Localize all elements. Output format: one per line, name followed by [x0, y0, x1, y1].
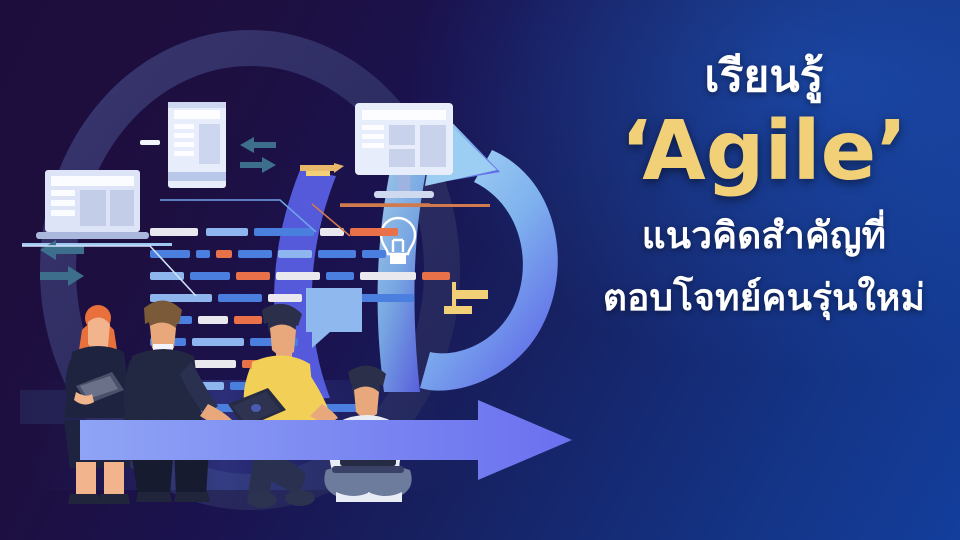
headline-learn: เรียนรู้ [704, 52, 823, 101]
exchange-arrows-icon-top [240, 137, 276, 173]
subheadline-line-2: ตอบโจทย์คนรุ่นใหม่ [603, 277, 925, 318]
subheadline-line-1: แนวคิดสำคัญที่ [642, 215, 887, 256]
dash-mark [140, 140, 160, 145]
laptop-icon [22, 170, 172, 246]
speech-bubble-icon [306, 288, 362, 348]
illustration [0, 0, 620, 540]
text-panel: เรียนรู้ ‘Agile’ แนวคิดสำคัญที่ ตอบโจทย์… [568, 0, 960, 540]
tablet-icon [168, 102, 226, 188]
headline-keyword-agile: ‘Agile’ [621, 109, 908, 195]
poster-canvas: เรียนรู้ ‘Agile’ แนวคิดสำคัญที่ ตอบโจทย์… [0, 0, 960, 540]
